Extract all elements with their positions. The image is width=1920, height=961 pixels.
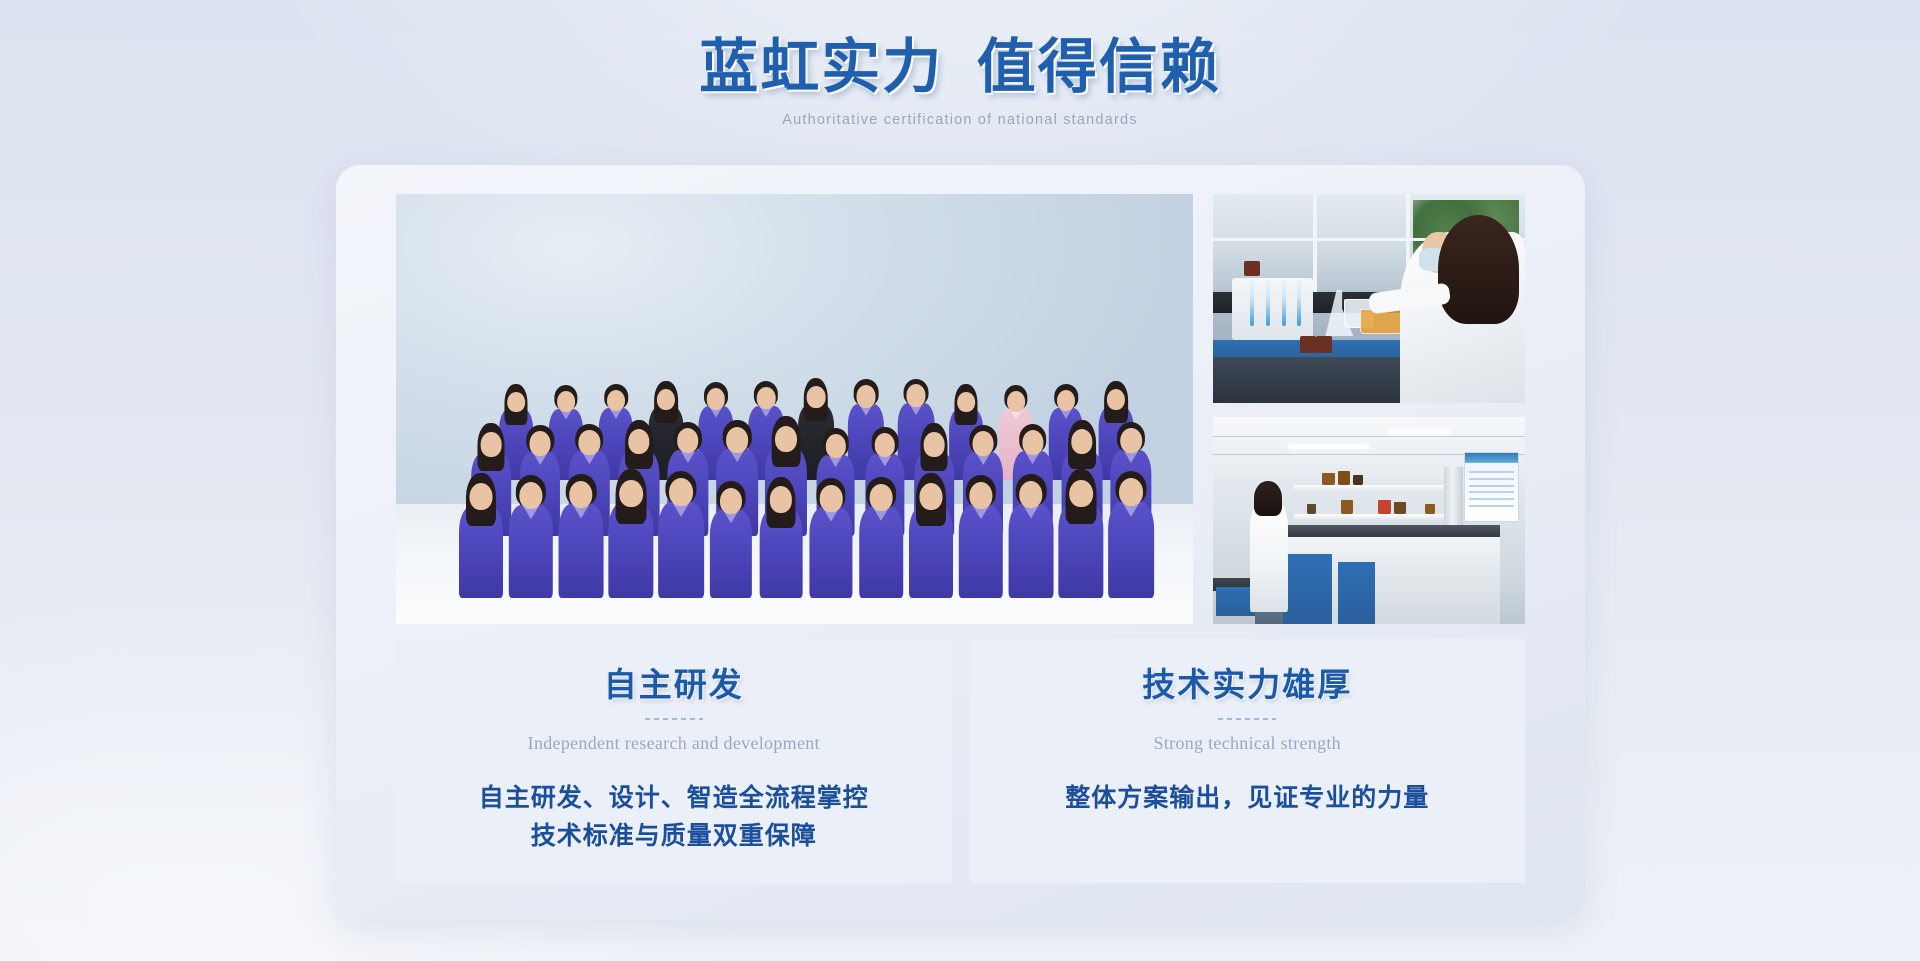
person-head [481, 432, 502, 456]
reagent-shelf [1294, 514, 1450, 520]
reagent-bottle [1394, 502, 1406, 514]
page-subtitle: Authoritative certification of national … [0, 112, 1920, 128]
window-mullion [1313, 194, 1317, 292]
ceiling-light [1388, 429, 1450, 434]
reagent-bottle [1316, 336, 1332, 353]
page-header: 蓝虹实力 值得信赖 Authoritative certification of… [0, 34, 1920, 128]
person-head [470, 483, 493, 510]
reagent-bottle [1338, 471, 1350, 485]
pipette [1297, 280, 1301, 326]
feature-card-description: 自主研发、设计、智造全流程掌控 技术标准与质量双重保障 [479, 780, 869, 858]
person-head [579, 430, 600, 455]
person-head [906, 384, 925, 406]
group-photo-people [396, 280, 1193, 598]
person-head [1007, 391, 1025, 412]
reagent-bottle [1300, 336, 1316, 353]
person-head [607, 390, 625, 411]
technician-lab-coat [1250, 504, 1287, 612]
technician-hair [1438, 215, 1519, 324]
ceiling-grid-line [1213, 436, 1525, 437]
person-head [557, 391, 575, 412]
lab-technician-photo [1213, 194, 1525, 403]
feature-card-independent-rd[interactable]: 自主研发 Independent research and developmen… [396, 639, 952, 883]
lab-technician-scene [1213, 194, 1525, 403]
reagent-shelf [1294, 485, 1450, 491]
feature-card-description-line-2: 技术标准与质量双重保障 [479, 818, 869, 857]
person-head [677, 428, 699, 453]
person-head [757, 387, 776, 409]
person-head [1119, 478, 1143, 506]
feature-card-english-subtitle: Independent research and development [528, 733, 820, 754]
person-head [870, 484, 893, 511]
page-title: 蓝虹实力 值得信赖 [0, 34, 1920, 102]
reagent-bottle [1307, 504, 1316, 514]
person-head [775, 426, 797, 452]
person-head [825, 434, 845, 458]
person-head [820, 485, 843, 511]
pipette [1266, 280, 1270, 326]
person-head [770, 486, 792, 512]
dashed-divider-icon [1218, 718, 1276, 720]
feature-card-title: 自主研发 [604, 667, 744, 707]
person-head [875, 433, 896, 457]
feature-card-description-line-1: 整体方案输出，见证专业的力量 [1065, 785, 1429, 812]
safety-notice-poster [1464, 452, 1519, 522]
person-head [957, 392, 975, 413]
person-head [1120, 428, 1142, 453]
company-group-photo [396, 194, 1193, 624]
island-blue-cabinet [1338, 562, 1375, 624]
person-head [726, 427, 748, 453]
person-head [569, 481, 592, 509]
person-head [619, 480, 643, 508]
person-head [628, 429, 649, 454]
person-head [920, 483, 943, 510]
person-head [519, 482, 542, 509]
reagent-bottle [1244, 261, 1260, 276]
person-head [1071, 429, 1092, 454]
person-head [707, 388, 725, 410]
feature-card-description-line-1: 自主研发、设计、智造全流程掌控 [479, 785, 869, 812]
reagent-bottle [1378, 500, 1390, 514]
feature-card-title: 技术实力雄厚 [1142, 667, 1352, 707]
feature-card-description: 整体方案输出，见证专业的力量 [1065, 780, 1429, 819]
reagent-bottle [1353, 475, 1362, 485]
ceiling-light [1288, 444, 1369, 449]
person-head [924, 432, 945, 456]
person-head [657, 389, 675, 410]
person-head [507, 392, 525, 413]
person-head [720, 488, 742, 514]
technician-hair [1254, 481, 1282, 516]
person-head [1107, 389, 1125, 410]
laboratory-room-photo [1213, 417, 1525, 624]
person-head [1069, 480, 1093, 508]
reagent-bottle [1341, 500, 1353, 514]
person-head [1019, 481, 1042, 509]
pipette [1250, 280, 1254, 326]
person-head [1057, 390, 1075, 411]
reagent-bottle [1322, 473, 1334, 485]
media-gallery [396, 194, 1525, 624]
laboratory-room-scene [1213, 417, 1525, 624]
content-panel: 自主研发 Independent research and developmen… [336, 165, 1585, 920]
feature-card-english-subtitle: Strong technical strength [1154, 733, 1341, 754]
pipette [1282, 280, 1286, 326]
dashed-divider-icon [645, 718, 703, 720]
person-head [973, 431, 994, 456]
person-head [969, 482, 992, 509]
island-blue-cabinet [1282, 554, 1332, 624]
reagent-bottle [1425, 504, 1434, 514]
person-head [669, 478, 693, 506]
person-head [857, 385, 876, 407]
island-bench-top [1282, 525, 1500, 537]
feature-cards: 自主研发 Independent research and developmen… [396, 639, 1525, 883]
person-head [807, 386, 826, 408]
page-background: 蓝虹实力 值得信赖 Authoritative certification of… [0, 0, 1920, 961]
feature-card-technical-strength[interactable]: 技术实力雄厚 Strong technical strength 整体方案输出，… [970, 639, 1526, 883]
person-head [1022, 430, 1043, 455]
person-head [530, 431, 551, 456]
